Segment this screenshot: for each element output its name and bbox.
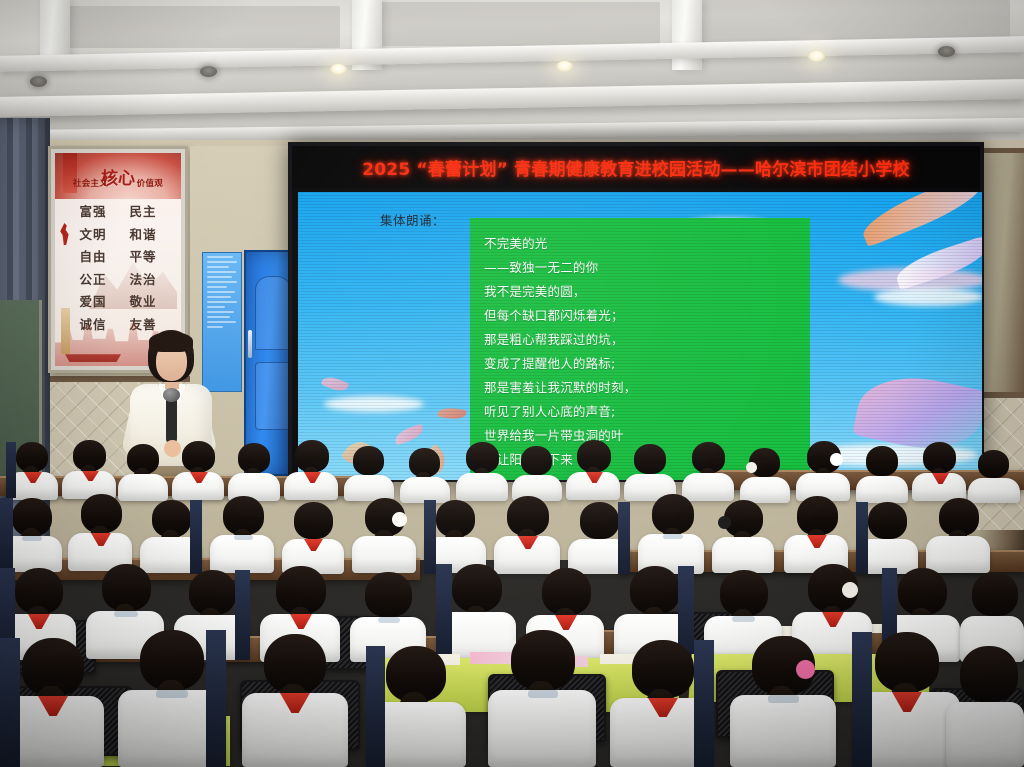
student [568, 502, 630, 574]
ceiling [0, 0, 1024, 152]
student [796, 441, 850, 501]
student [852, 632, 960, 767]
student [946, 646, 1024, 767]
student [968, 450, 1020, 502]
led-banner-text: 2025 “春蕾计划” 青春期健康教育进校园活动——哈尔滨市团结小学校 [362, 155, 910, 180]
core-values-list: 富强 民主 文明 和谐 自由 平等 公正 法治 爱国 敬业 [55, 201, 181, 336]
hair-scrunchie [796, 660, 815, 679]
poem-line: 不完美的光 [484, 232, 802, 256]
student [682, 442, 734, 500]
hair-scrunchie [392, 512, 407, 527]
poem-line: 我不是完美的圆， [484, 280, 802, 304]
student [282, 502, 344, 574]
ceiling-downlight [938, 46, 955, 57]
poem-lines: 不完美的光 ——致独一无二的你 我不是完美的圆， 但每个缺口都闪烁着光； 那是粗… [484, 232, 802, 472]
student [366, 646, 466, 767]
core-value: 民主 [126, 201, 160, 220]
ceiling-downlight [330, 64, 347, 75]
student [172, 441, 224, 499]
core-value: 富强 [76, 201, 110, 220]
core-value: 法治 [126, 269, 160, 288]
student [140, 500, 202, 574]
microphone-head-icon [163, 388, 180, 402]
core-value: 平等 [126, 246, 160, 265]
student [0, 638, 104, 767]
student [228, 443, 280, 499]
ceiling-downlight [30, 76, 47, 87]
core-value: 敬业 [126, 291, 160, 310]
student [344, 446, 394, 500]
poem-line: 那是粗心帮我踩过的坑， [484, 328, 802, 352]
ceiling-downlight [556, 61, 573, 72]
student [68, 494, 132, 572]
poem-line: 但每个缺口都闪烁着光； [484, 304, 802, 328]
hair-scrunchie [830, 453, 843, 466]
student-audience [0, 440, 1024, 767]
hair-scrunchie [718, 516, 731, 529]
student [610, 640, 714, 767]
classroom-photo-scene: 核心 社会主义 价值观 富强 民主 文明 和谐 自由 平等 [0, 0, 1024, 767]
core-value: 和谐 [126, 224, 160, 243]
core-value: 自由 [76, 246, 110, 265]
student [926, 498, 990, 574]
core-values-row: 爱国 敬业 [55, 291, 181, 310]
poem-line: ——致独一无二的你 [484, 256, 802, 280]
hair-scrunchie [746, 462, 757, 473]
ceiling-downlight [808, 51, 825, 62]
poster-heading-left: 社会主义 [73, 179, 108, 189]
poster-column-graphic [61, 308, 70, 354]
feather-graphic [857, 192, 982, 247]
student [210, 496, 274, 574]
student [740, 448, 790, 502]
core-value: 公正 [76, 269, 110, 288]
petal-graphic [437, 406, 466, 422]
student [730, 636, 836, 767]
core-values-row: 文明 和谐 [55, 224, 181, 243]
core-values-row: 自由 平等 [55, 246, 181, 265]
student [488, 630, 596, 767]
student [456, 442, 508, 500]
core-value: 文明 [76, 224, 110, 243]
student [352, 498, 416, 574]
student [912, 442, 966, 500]
core-value: 诚信 [76, 314, 110, 333]
door-handle[interactable] [248, 330, 252, 358]
student [6, 442, 58, 498]
student [62, 440, 116, 498]
student [624, 444, 676, 500]
slide-section-label: 集体朗诵： [380, 210, 445, 229]
student [242, 634, 348, 767]
student [118, 630, 226, 767]
student [118, 444, 168, 500]
led-display-frame: 2025 “春蕾计划” 青春期健康教育进校园活动——哈尔滨市团结小学校 集体朗诵… [288, 142, 984, 482]
student [424, 500, 486, 574]
student [638, 494, 704, 574]
student [0, 498, 62, 572]
ceiling-downlight [200, 66, 217, 77]
poem-line: 变成了提醒他人的路标; [484, 352, 802, 376]
student [494, 496, 560, 574]
student [856, 446, 908, 502]
student [512, 446, 562, 500]
presenter-hair-fringe [149, 332, 193, 352]
poster-heading-right: 价值观 [137, 179, 163, 189]
student [712, 500, 774, 574]
student [784, 496, 848, 574]
poem-line: 那是害羞让我沉默的时刻， [484, 376, 802, 400]
poem-line: 听见了别人心底的声音; [484, 400, 802, 424]
petal-graphic [321, 373, 350, 395]
core-value: 爱国 [76, 291, 110, 310]
core-values-row: 公正 法治 [55, 269, 181, 288]
hair-scrunchie [842, 582, 858, 598]
student [400, 448, 450, 502]
student [284, 440, 338, 500]
core-values-row: 富强 民主 [55, 201, 181, 220]
presentation-slide: 集体朗诵： 不完美的光 ——致独一无二的你 我不是完美的圆， 但每个缺口都闪烁着… [298, 192, 982, 480]
led-banner: 2025 “春蕾计划” 青春期健康教育进校园活动——哈尔滨市团结小学校 [292, 146, 980, 188]
student [566, 440, 620, 500]
